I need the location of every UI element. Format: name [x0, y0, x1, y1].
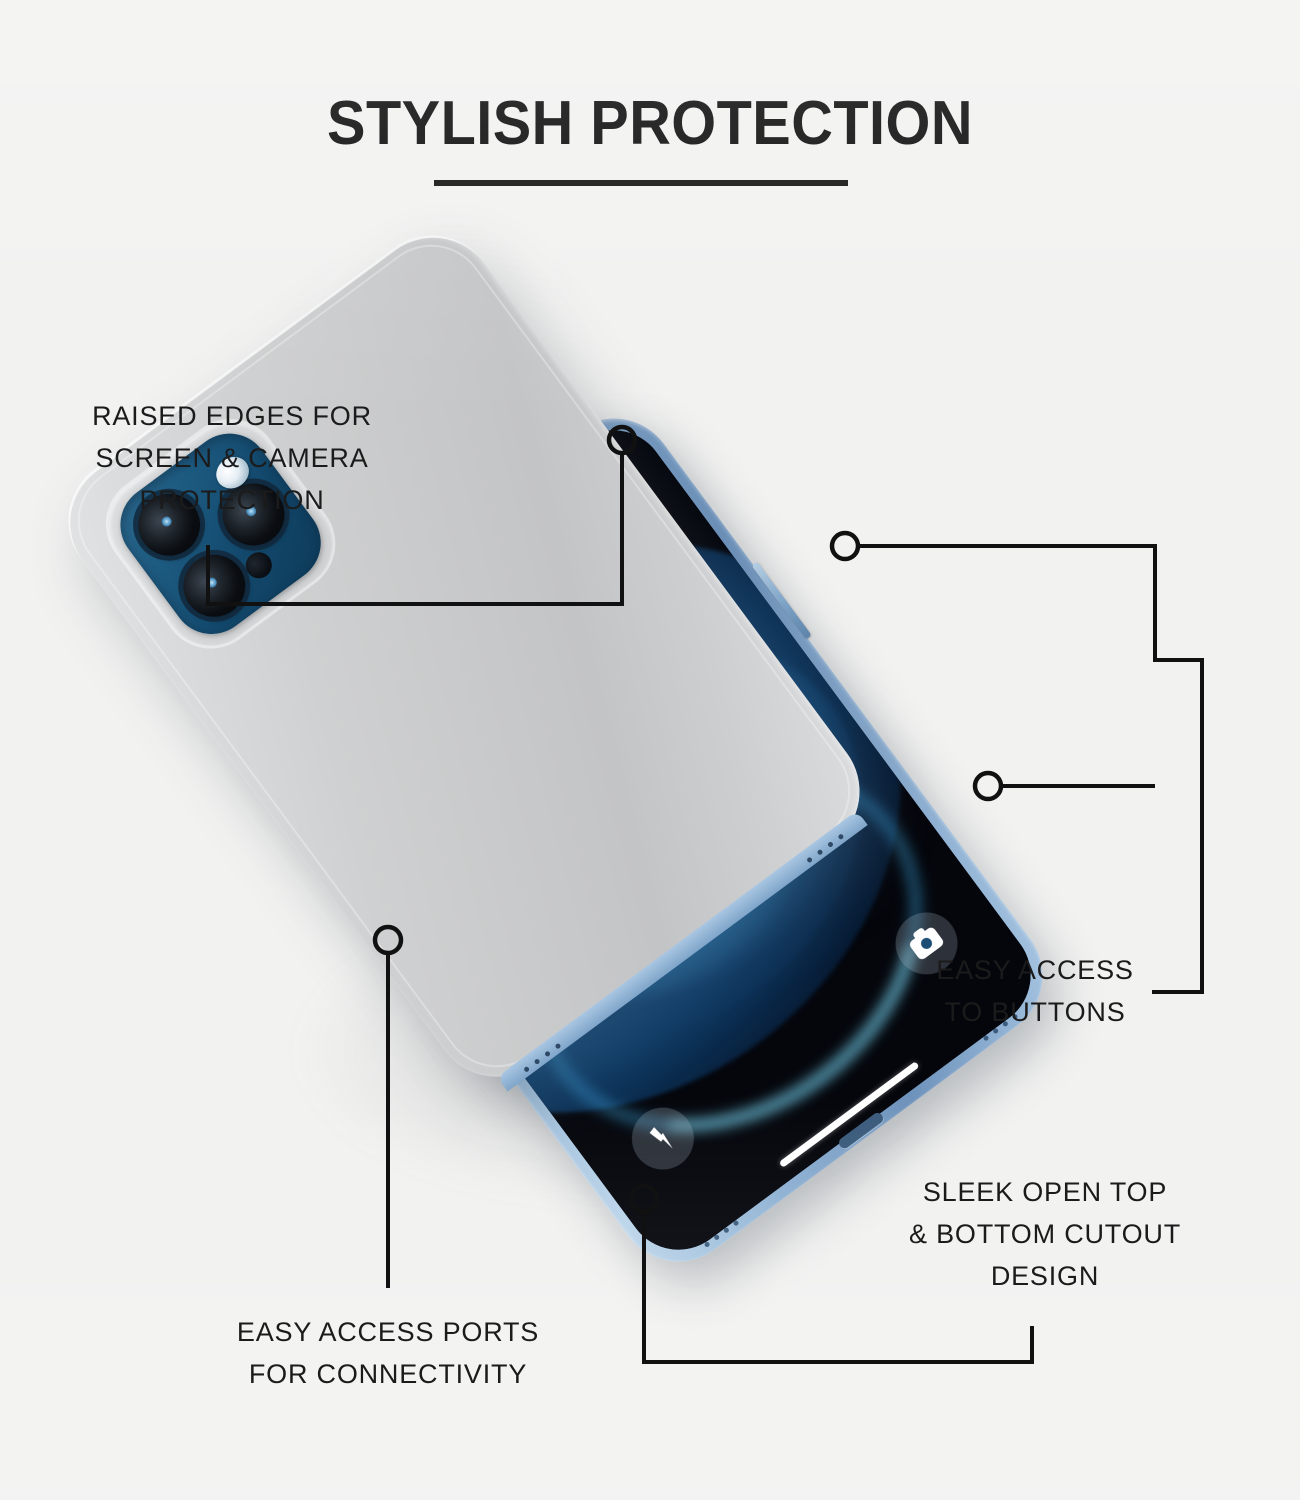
- callout-label-raised-edges: RAISED EDGES FOR SCREEN & CAMERA PROTECT…: [32, 396, 432, 522]
- callout-line: EASY ACCESS PORTS: [198, 1312, 578, 1354]
- callout-line: TO BUTTONS: [880, 992, 1190, 1034]
- callout-label-easy-access-buttons: EASY ACCESS TO BUTTONS: [880, 950, 1190, 1034]
- lidar-sensor-icon: [241, 547, 277, 583]
- speaker-grille-left: [704, 1220, 740, 1248]
- callout-line: & BOTTOM CUTOUT: [880, 1214, 1210, 1256]
- callout-line: EASY ACCESS: [880, 950, 1190, 992]
- callout-line: RAISED EDGES FOR: [32, 396, 432, 438]
- callout-line: FOR CONNECTIVITY: [198, 1354, 578, 1396]
- callout-label-easy-access-ports: EASY ACCESS PORTS FOR CONNECTIVITY: [198, 1312, 578, 1396]
- callout-line: SLEEK OPEN TOP: [880, 1172, 1210, 1214]
- infographic-canvas: STYLISH PROTECTION: [0, 0, 1300, 1500]
- callout-line: PROTECTION: [32, 480, 432, 522]
- camera-lens-ultrawide: [171, 542, 258, 629]
- callout-line: DESIGN: [880, 1256, 1210, 1298]
- callout-label-sleek-cutout: SLEEK OPEN TOP & BOTTOM CUTOUT DESIGN: [880, 1172, 1210, 1298]
- callout-line: SCREEN & CAMERA: [32, 438, 432, 480]
